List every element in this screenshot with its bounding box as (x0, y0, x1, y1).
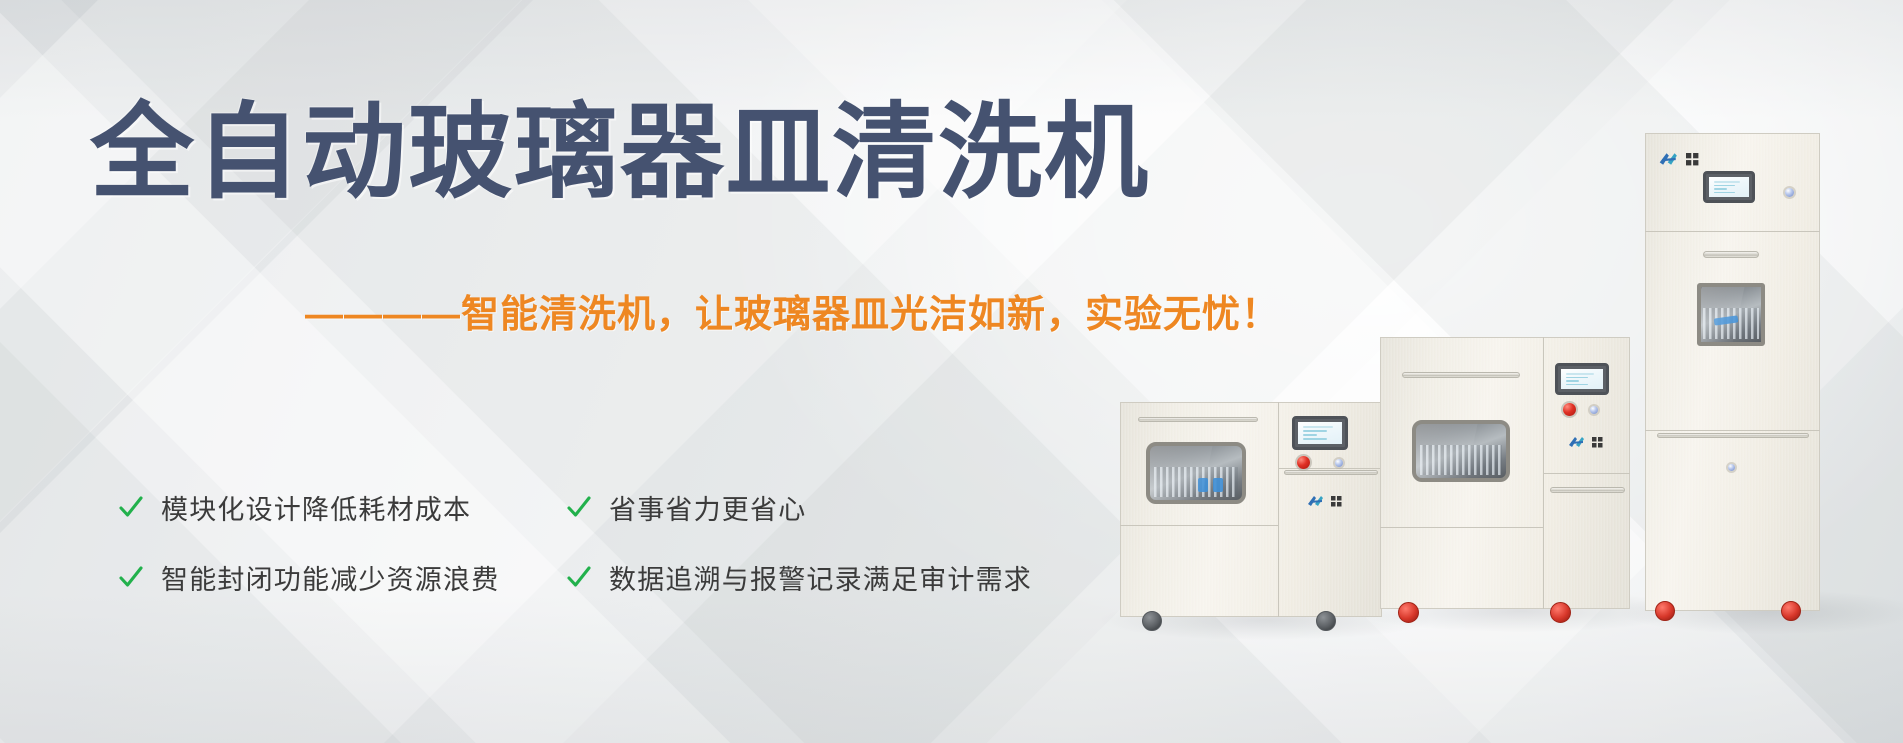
emergency-stop-button[interactable] (1297, 456, 1310, 469)
window-glare (1697, 283, 1746, 346)
feature-item-2: 省事省力更省心 (566, 472, 1032, 542)
product-shadow (1100, 600, 1430, 640)
screen-line (1303, 434, 1317, 436)
machine-body (1120, 402, 1382, 617)
glassware-load (1154, 467, 1239, 497)
blue-rack-part (1714, 315, 1739, 325)
machine-body (1645, 133, 1820, 611)
panel-divider (1645, 430, 1820, 431)
feature-item-3: 智能封闭功能减少资源浪费 (118, 542, 566, 612)
check-icon (118, 494, 144, 520)
caster-wheel (1142, 611, 1162, 631)
touchscreen-display (1561, 369, 1603, 389)
viewing-window (1146, 442, 1246, 504)
brand-logo (1306, 494, 1342, 508)
caster-wheel (1781, 601, 1801, 621)
caster-wheel (1316, 611, 1336, 631)
feature-item-1: 模块化设计降低耗材成本 (118, 472, 566, 542)
screen-line (1714, 188, 1727, 190)
viewing-window (1412, 420, 1510, 482)
window-glare (1412, 420, 1478, 482)
caster-wheel (1398, 602, 1419, 623)
h-logo-icon (1306, 494, 1328, 508)
h-logo-icon (1567, 435, 1589, 449)
screen-line (1714, 181, 1740, 183)
screen-line (1714, 192, 1735, 194)
power-indicator[interactable] (1785, 188, 1794, 197)
screen-line (1566, 384, 1588, 386)
touchscreen[interactable] (1555, 363, 1609, 395)
feature-label: 模块化设计降低耗材成本 (161, 488, 471, 527)
screen-line (1566, 377, 1588, 379)
touchscreen-display (1709, 177, 1749, 197)
door-handle[interactable] (1138, 417, 1258, 422)
check-icon (566, 564, 592, 590)
touchscreen-display (1298, 422, 1342, 444)
product-washer-3 (1645, 133, 1820, 611)
touchscreen[interactable] (1703, 171, 1755, 203)
product-shadow (1355, 590, 1685, 632)
grid-logo-icon (1331, 496, 1342, 507)
hatch-handle[interactable] (1284, 470, 1378, 475)
door-lock-icon (1728, 464, 1735, 471)
check-icon (566, 494, 592, 520)
product-shadow (1620, 590, 1903, 634)
glassware-load (1420, 445, 1503, 475)
panel-divider (1278, 468, 1382, 469)
door-handle[interactable] (1703, 251, 1759, 258)
panel-divider (1645, 231, 1820, 232)
brand-logo (1567, 435, 1603, 449)
panel-divider (1120, 525, 1278, 526)
screen-line (1303, 426, 1333, 428)
feature-item-4: 数据追溯与报警记录满足审计需求 (566, 542, 1032, 612)
lower-door-handle[interactable] (1657, 433, 1809, 438)
screen-line (1566, 380, 1579, 382)
product-washer-2 (1380, 337, 1630, 609)
machine-body (1380, 337, 1630, 609)
caster-wheel (1655, 601, 1675, 621)
brand-logo (1657, 151, 1699, 167)
page-title: 全自动玻璃器皿清洗机 (90, 101, 1150, 205)
panel-divider (1543, 473, 1630, 474)
hatch-handle[interactable] (1550, 487, 1625, 493)
screen-line (1303, 430, 1327, 432)
door-handle[interactable] (1402, 372, 1520, 378)
screen-line (1303, 438, 1327, 440)
product-banner: 全自动玻璃器皿清洗机 ————智能清洗机，让玻璃器皿光洁如新，实验无忧！ 模块化… (0, 0, 1903, 743)
touchscreen[interactable] (1292, 416, 1348, 450)
screen-line (1566, 373, 1594, 375)
window-glare (1146, 442, 1213, 504)
h-logo-icon (1657, 151, 1683, 167)
glassware-load (1703, 308, 1758, 339)
blue-rack-part (1198, 478, 1208, 492)
caster-wheel (1550, 602, 1571, 623)
feature-list: 模块化设计降低耗材成本 省事省力更省心 智能封闭功能减少资源浪费 数据追溯与报警… (118, 472, 1032, 612)
panel-divider (1380, 527, 1543, 528)
page-subtitle: ————智能清洗机，让玻璃器皿光洁如新，实验无忧！ (305, 296, 1280, 334)
emergency-stop-button[interactable] (1563, 403, 1576, 416)
screen-line (1714, 185, 1735, 187)
check-icon (118, 564, 144, 590)
panel-divider (1543, 337, 1544, 609)
feature-label: 数据追溯与报警记录满足审计需求 (609, 558, 1032, 597)
grid-logo-icon (1686, 153, 1699, 166)
viewing-window (1697, 283, 1765, 346)
panel-divider (1278, 402, 1279, 617)
product-washer-1 (1120, 402, 1382, 617)
feature-label: 智能封闭功能减少资源浪费 (161, 558, 499, 597)
blue-rack-part (1213, 478, 1223, 492)
power-indicator[interactable] (1335, 459, 1343, 467)
feature-label: 省事省力更省心 (609, 488, 806, 527)
power-indicator[interactable] (1590, 406, 1598, 414)
grid-logo-icon (1592, 437, 1603, 448)
